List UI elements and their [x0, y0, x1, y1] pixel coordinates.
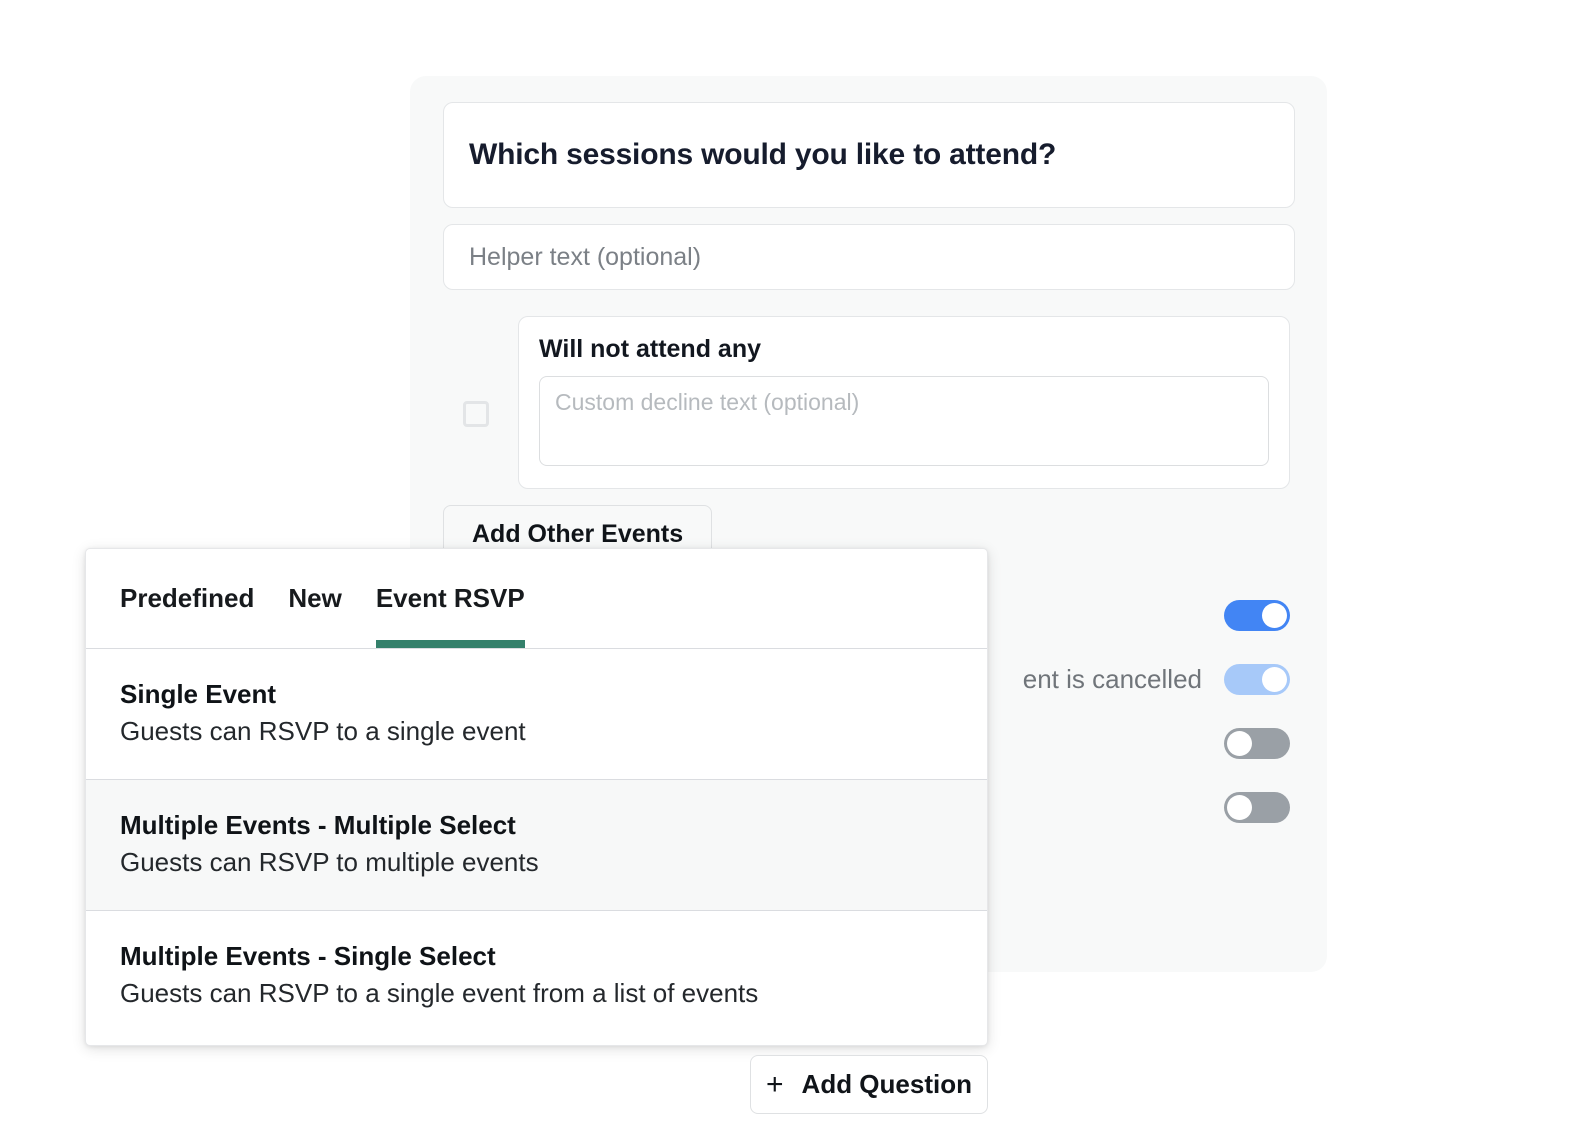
setting-toggle[interactable] — [1224, 792, 1290, 823]
tab-predefined[interactable]: Predefined — [120, 549, 254, 648]
tab-new[interactable]: New — [288, 549, 341, 648]
page-title: Which sessions would you like to attend? — [469, 138, 1056, 172]
setting-label: ent is cancelled — [1023, 664, 1202, 695]
list-item-multiple-events-single-select[interactable]: Multiple Events - Single Select Guests c… — [86, 911, 987, 1041]
question-title-input[interactable]: Which sessions would you like to attend? — [443, 102, 1295, 208]
dropdown-tab-bar: Predefined New Event RSVP — [86, 549, 987, 649]
decline-option-title: Will not attend any — [539, 335, 1269, 364]
list-item-single-event[interactable]: Single Event Guests can RSVP to a single… — [86, 649, 987, 780]
decline-checkbox-icon[interactable] — [463, 401, 489, 427]
add-question-button[interactable]: + Add Question — [750, 1055, 988, 1114]
toggle-knob — [1262, 667, 1287, 692]
list-item-title: Single Event — [120, 679, 953, 710]
custom-decline-text-placeholder: Custom decline text (optional) — [555, 389, 859, 415]
toggle-knob — [1227, 731, 1252, 756]
setting-row — [1202, 728, 1290, 759]
tab-event-rsvp-label: Event RSVP — [376, 583, 525, 614]
setting-toggle[interactable] — [1224, 728, 1290, 759]
question-type-dropdown-panel: Predefined New Event RSVP Single Event G… — [85, 548, 988, 1046]
decline-option-row: Will not attend any Custom decline text … — [443, 316, 1295, 489]
helper-text-input[interactable]: Helper text (optional) — [443, 224, 1295, 290]
setting-row: ent is cancelled — [1023, 664, 1290, 695]
helper-text-placeholder: Helper text (optional) — [469, 243, 701, 272]
list-item-multiple-events-multiple-select[interactable]: Multiple Events - Multiple Select Guests… — [86, 780, 987, 911]
setting-row — [1202, 792, 1290, 823]
add-other-events-label: Add Other Events — [472, 520, 683, 549]
toggle-knob — [1262, 603, 1287, 628]
add-question-label: Add Question — [802, 1069, 972, 1100]
list-item-title: Multiple Events - Single Select — [120, 941, 953, 972]
setting-toggle[interactable] — [1224, 664, 1290, 695]
setting-row — [1202, 600, 1290, 631]
tab-event-rsvp[interactable]: Event RSVP — [376, 549, 525, 648]
decline-option-card: Will not attend any Custom decline text … — [518, 316, 1290, 489]
tab-new-label: New — [288, 583, 341, 614]
plus-icon: + — [766, 1070, 784, 1100]
setting-toggle[interactable] — [1224, 600, 1290, 631]
list-item-description: Guests can RSVP to a single event — [120, 716, 953, 747]
list-item-description: Guests can RSVP to multiple events — [120, 847, 953, 878]
custom-decline-text-input[interactable]: Custom decline text (optional) — [539, 376, 1269, 466]
toggle-knob — [1227, 795, 1252, 820]
list-item-description: Guests can RSVP to a single event from a… — [120, 978, 953, 1009]
tab-predefined-label: Predefined — [120, 583, 254, 614]
list-item-title: Multiple Events - Multiple Select — [120, 810, 953, 841]
